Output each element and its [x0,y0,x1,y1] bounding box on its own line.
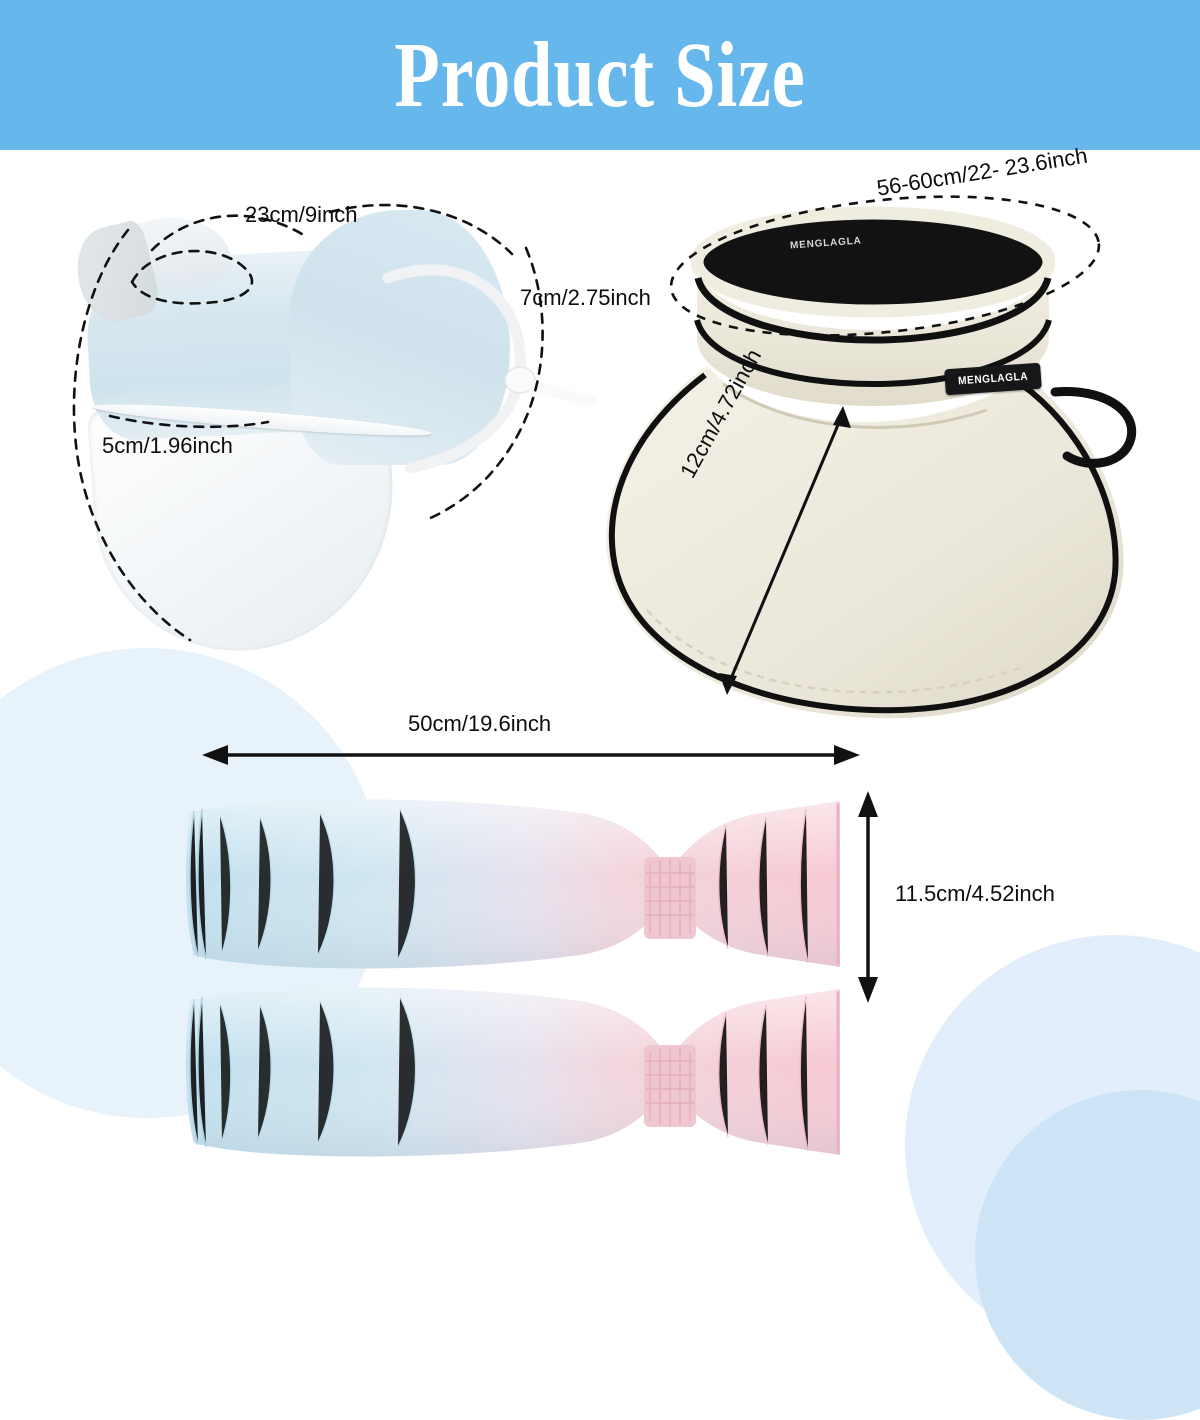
page-title: Product Size [394,29,805,122]
mask-dimension-guides [40,190,620,660]
arm-sleeves-figure: 50cm/19.6inch 11.5cm/4.52inch [150,705,1150,1175]
header-banner: Product Size [0,0,1200,150]
sun-visor-illustration [555,170,1185,730]
product-diagram-stage: 23cm/9inch 7cm/2.75inch 13cm/5.11inch 5c… [0,150,1200,1200]
sun-visor-figure: MENGLAGLA MENGLAGLA 56-60cm/22- 23.6inch… [555,170,1185,730]
arm-sleeves-illustration [150,705,1150,1175]
mask-height-label: 13cm/5.11inch [0,355,2,496]
visor-brand-patch-text: MENGLAGLA [958,371,1029,388]
mask-chin-depth-label: 5cm/1.96inch [102,433,233,459]
sleeve-width-label: 11.5cm/4.52inch [895,881,1055,907]
mask-width-label: 23cm/9inch [245,202,358,228]
sleeve-length-label: 50cm/19.6inch [408,711,551,737]
face-mask-figure: 23cm/9inch 7cm/2.75inch 13cm/5.11inch 5c… [40,190,620,660]
